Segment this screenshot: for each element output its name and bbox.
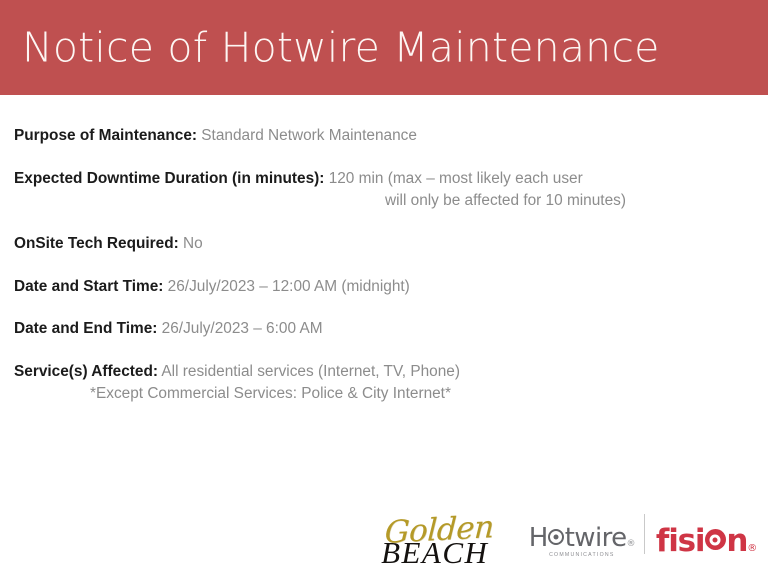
hotwire-text-part-2: twire: [565, 525, 627, 551]
footer-logo-row: Golden BEACH H twire ® COMMUNICATIONS fi…: [0, 480, 768, 576]
hotwire-wordmark: H twire ®: [529, 525, 635, 551]
fision-trademark-symbol: ®: [747, 543, 756, 554]
hotwire-text-part-1: H: [529, 525, 548, 551]
field-expected-downtime-duration: Expected Downtime Duration (in minutes):…: [14, 168, 754, 212]
field-label: Service(s) Affected:: [14, 363, 158, 380]
page-title: Notice of Hotwire Maintenance: [22, 26, 660, 69]
field-purpose-of-maintenance: Purpose of Maintenance: Standard Network…: [14, 125, 754, 147]
field-value-continuation: will only be affected for 10 minutes): [14, 190, 754, 212]
field-onsite-tech-required: OnSite Tech Required: No: [14, 233, 754, 255]
fision-text-part-2: n: [726, 523, 747, 559]
field-label: Date and Start Time:: [14, 278, 163, 295]
hotwire-trademark-symbol: ®: [627, 540, 635, 549]
field-value-continuation: *Except Commercial Services: Police & Ci…: [14, 383, 754, 405]
golden-beach-logo: Golden BEACH: [365, 515, 505, 568]
field-value: 120 min (max – most likely each user: [329, 170, 583, 187]
golden-beach-golden-text: Golden: [383, 512, 494, 549]
fision-bullseye-o-icon: [705, 529, 726, 550]
fision-text-part-1: fisi: [656, 523, 704, 559]
field-label: Purpose of Maintenance:: [14, 127, 197, 144]
field-date-and-end-time: Date and End Time: 26/July/2023 – 6:00 A…: [14, 318, 754, 340]
logo-divider: [644, 514, 645, 554]
field-label: Expected Downtime Duration (in minutes):: [14, 170, 324, 187]
field-value: 26/July/2023 – 6:00 AM: [162, 320, 323, 337]
header-band: Notice of Hotwire Maintenance: [0, 0, 768, 95]
field-services-affected: Service(s) Affected: All residential ser…: [14, 361, 754, 405]
field-value: All residential services (Internet, TV, …: [161, 363, 460, 380]
field-label: OnSite Tech Required:: [14, 235, 179, 252]
field-date-and-start-time: Date and Start Time: 26/July/2023 – 12:0…: [14, 276, 754, 298]
maintenance-details: Purpose of Maintenance: Standard Network…: [0, 95, 768, 480]
field-value: No: [183, 235, 203, 252]
fision-logo: fisi n ®: [656, 523, 756, 559]
hotwire-tagline: COMMUNICATIONS: [549, 553, 615, 558]
hotwire-logo: H twire ® COMMUNICATIONS: [529, 525, 635, 558]
hotwire-target-o-icon: [548, 529, 564, 545]
field-value: 26/July/2023 – 12:00 AM (midnight): [168, 278, 410, 295]
field-label: Date and End Time:: [14, 320, 157, 337]
field-value: Standard Network Maintenance: [201, 127, 417, 144]
